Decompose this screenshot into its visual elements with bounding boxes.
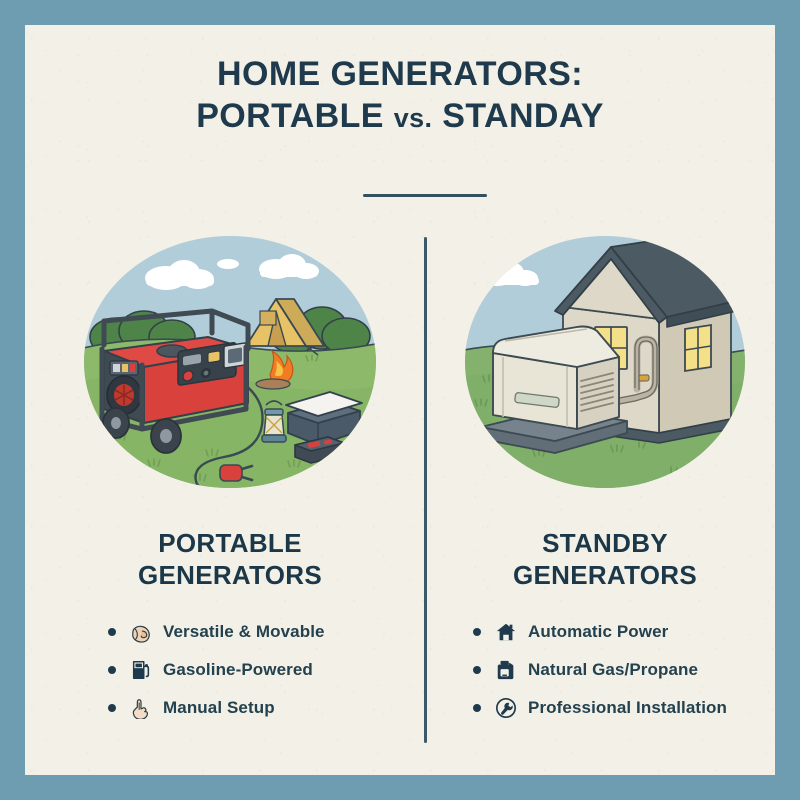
gas-canister-icon — [493, 659, 519, 681]
wrench-circle-icon — [493, 697, 519, 719]
standby-generator-house-scene — [459, 233, 751, 491]
feature-text: Natural Gas/Propane — [528, 660, 698, 680]
feature-text: Manual Setup — [163, 698, 275, 718]
feature-text: Professional Installation — [528, 698, 727, 718]
window-icon — [685, 325, 711, 371]
portable-generator-camping-scene — [80, 233, 380, 491]
bullet-dot — [108, 628, 116, 636]
column-heading-portable-line2: GENERATORS — [50, 559, 410, 591]
bullet-dot — [108, 704, 116, 712]
title-line-2: PORTABLE vs. STANDAY — [25, 95, 775, 139]
pointing-hand-icon — [128, 697, 154, 719]
infographic-poster: HOME GENERATORS: PORTABLE vs. STANDAY — [0, 0, 800, 800]
column-heading-portable-line1: PORTABLE — [50, 527, 410, 559]
bullet-dot — [473, 628, 481, 636]
flexed-biceps-icon — [128, 621, 154, 643]
column-heading-standby: STANDBY GENERATORS — [425, 527, 775, 591]
camping-scene-illustration — [80, 233, 380, 491]
bullet-dot — [108, 666, 116, 674]
bullet-dot — [473, 704, 481, 712]
feature-text: Automatic Power — [528, 622, 668, 642]
feature-text: Gasoline-Powered — [163, 660, 313, 680]
list-item: Automatic Power — [473, 613, 775, 651]
list-item: Versatile & Movable — [108, 613, 410, 651]
list-item: Manual Setup — [108, 689, 410, 727]
house-icon — [493, 621, 519, 643]
title-divider-rule — [363, 194, 487, 197]
standby-generator-icon — [481, 327, 627, 454]
column-heading-standby-line1: STANDBY — [425, 527, 775, 559]
list-item: Professional Installation — [473, 689, 775, 727]
list-item: Gasoline-Powered — [108, 651, 410, 689]
poster-panel: HOME GENERATORS: PORTABLE vs. STANDAY — [25, 25, 775, 775]
title-portable-word: PORTABLE — [196, 97, 394, 135]
feature-list-standby: Automatic Power Natural Gas/Propane — [473, 613, 775, 727]
house-scene-illustration — [459, 233, 751, 491]
fuel-pump-icon — [128, 659, 154, 681]
feature-text: Versatile & Movable — [163, 622, 325, 642]
column-standby: STANDBY GENERATORS Automatic Power — [425, 225, 775, 727]
title-vs-word: vs. — [394, 103, 433, 133]
feature-list-portable: Versatile & Movable Gasoline-Powered — [108, 613, 410, 727]
page-title: HOME GENERATORS: PORTABLE vs. STANDAY — [25, 53, 775, 139]
title-standby-word: STANDAY — [432, 97, 603, 135]
bullet-dot — [473, 666, 481, 674]
column-heading-standby-line2: GENERATORS — [425, 559, 775, 591]
column-heading-portable: PORTABLE GENERATORS — [50, 527, 410, 591]
list-item: Natural Gas/Propane — [473, 651, 775, 689]
column-portable: PORTABLE GENERATORS Versatile & Movable — [50, 225, 410, 727]
title-line-1: HOME GENERATORS: — [25, 53, 775, 95]
